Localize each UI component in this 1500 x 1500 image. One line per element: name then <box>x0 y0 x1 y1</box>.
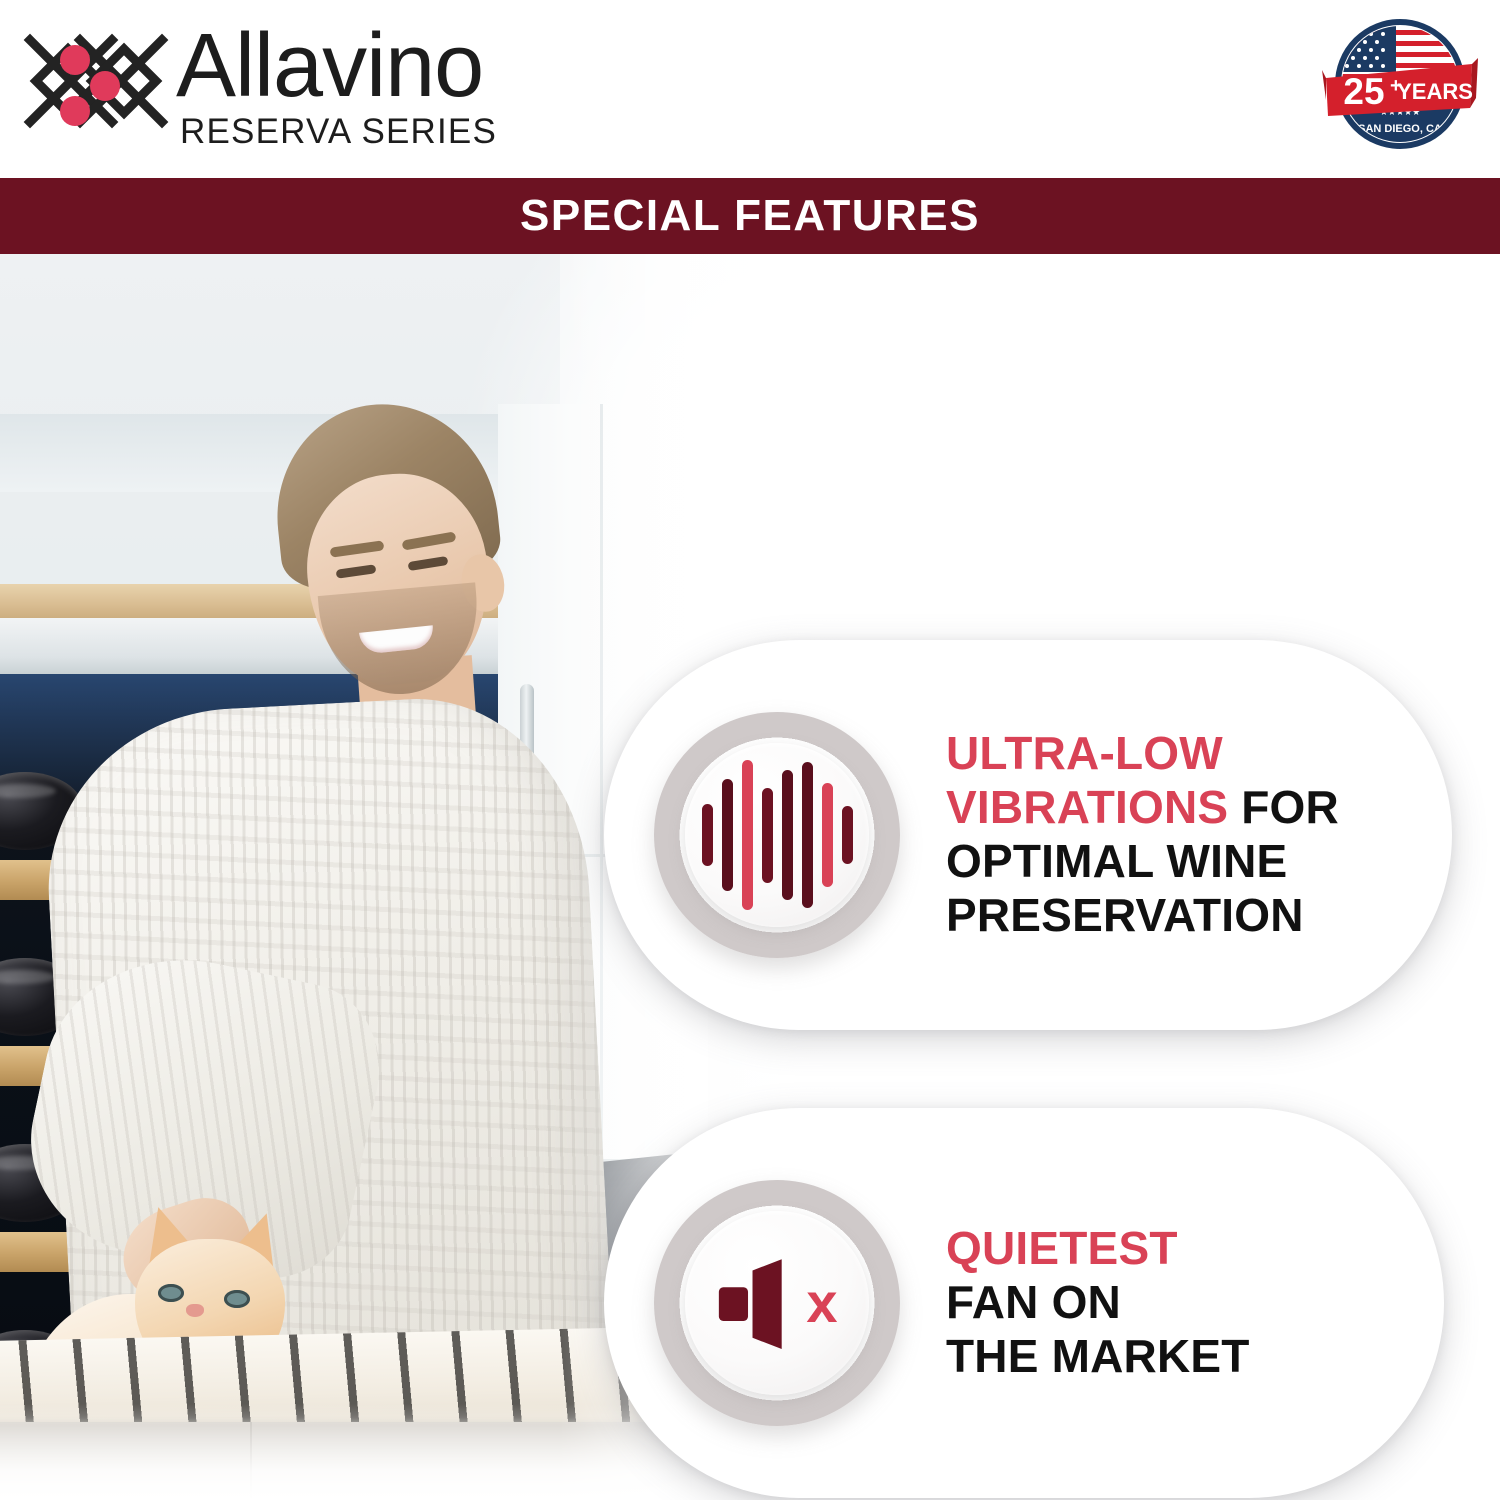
brand-name: Allavino <box>176 24 497 110</box>
cat-eye <box>224 1290 250 1308</box>
seal-years-label: YEARS <box>1397 79 1473 104</box>
seal-location: SAN DIEGO, CA <box>1358 123 1442 135</box>
feature-accent-text: VIBRATIONS <box>946 781 1228 833</box>
allavino-diamond-logo-icon <box>20 18 170 158</box>
feature-plain-text: FOR <box>1228 781 1339 833</box>
feature-line-3: OPTIMAL WINE <box>946 835 1339 889</box>
seal-years-number: 25 <box>1343 71 1384 112</box>
feature-card-text: ULTRA-LOW VIBRATIONS FOR OPTIMAL WINE PR… <box>946 727 1369 942</box>
hero-photo: ULTRA-LOW VIBRATIONS FOR OPTIMAL WINE PR… <box>0 254 1500 1500</box>
speaker-glyph <box>716 1257 798 1349</box>
icon-inner-disc <box>685 743 869 927</box>
feature-accent-text: QUIETEST <box>946 1222 1178 1274</box>
feature-accent-text: ULTRA-LOW <box>946 727 1223 779</box>
feature-line-1: ULTRA-LOW <box>946 727 1339 781</box>
banner-title: SPECIAL FEATURES <box>520 191 980 241</box>
icon-ring <box>654 712 900 958</box>
feature-line-2: FAN ON <box>946 1276 1250 1330</box>
icon-inner-disc: x <box>685 1211 869 1395</box>
cat-nose <box>186 1304 204 1317</box>
feature-line-3: THE MARKET <box>946 1330 1250 1384</box>
vibration-waveform-icon <box>702 760 853 910</box>
brand-logo: Allavino RESERVA SERIES <box>20 18 497 158</box>
special-features-banner: SPECIAL FEATURES <box>0 178 1500 254</box>
header: Allavino RESERVA SERIES <box>0 0 1500 178</box>
mute-x-mark: x <box>806 1275 837 1331</box>
feature-line-4: PRESERVATION <box>946 889 1339 943</box>
usa-25-years-seal-icon: ★★★★★ SAN DIEGO, CA 25 + YEARS <box>1320 12 1480 167</box>
feature-card-quietest-fan[interactable]: x QUIETEST FAN ON THE MARKET <box>604 1108 1444 1498</box>
feature-line-2: VIBRATIONS FOR <box>946 781 1339 835</box>
icon-ring: x <box>654 1180 900 1426</box>
feature-card-vibrations[interactable]: ULTRA-LOW VIBRATIONS FOR OPTIMAL WINE PR… <box>604 640 1452 1030</box>
feature-line-1: QUIETEST <box>946 1222 1250 1276</box>
marketing-graphic: Allavino RESERVA SERIES <box>0 0 1500 1500</box>
cat-eye <box>158 1284 184 1302</box>
feature-card-text: QUIETEST FAN ON THE MARKET <box>946 1222 1280 1383</box>
mute-speaker-icon: x <box>716 1257 837 1349</box>
brand-series: RESERVA SERIES <box>180 112 497 152</box>
